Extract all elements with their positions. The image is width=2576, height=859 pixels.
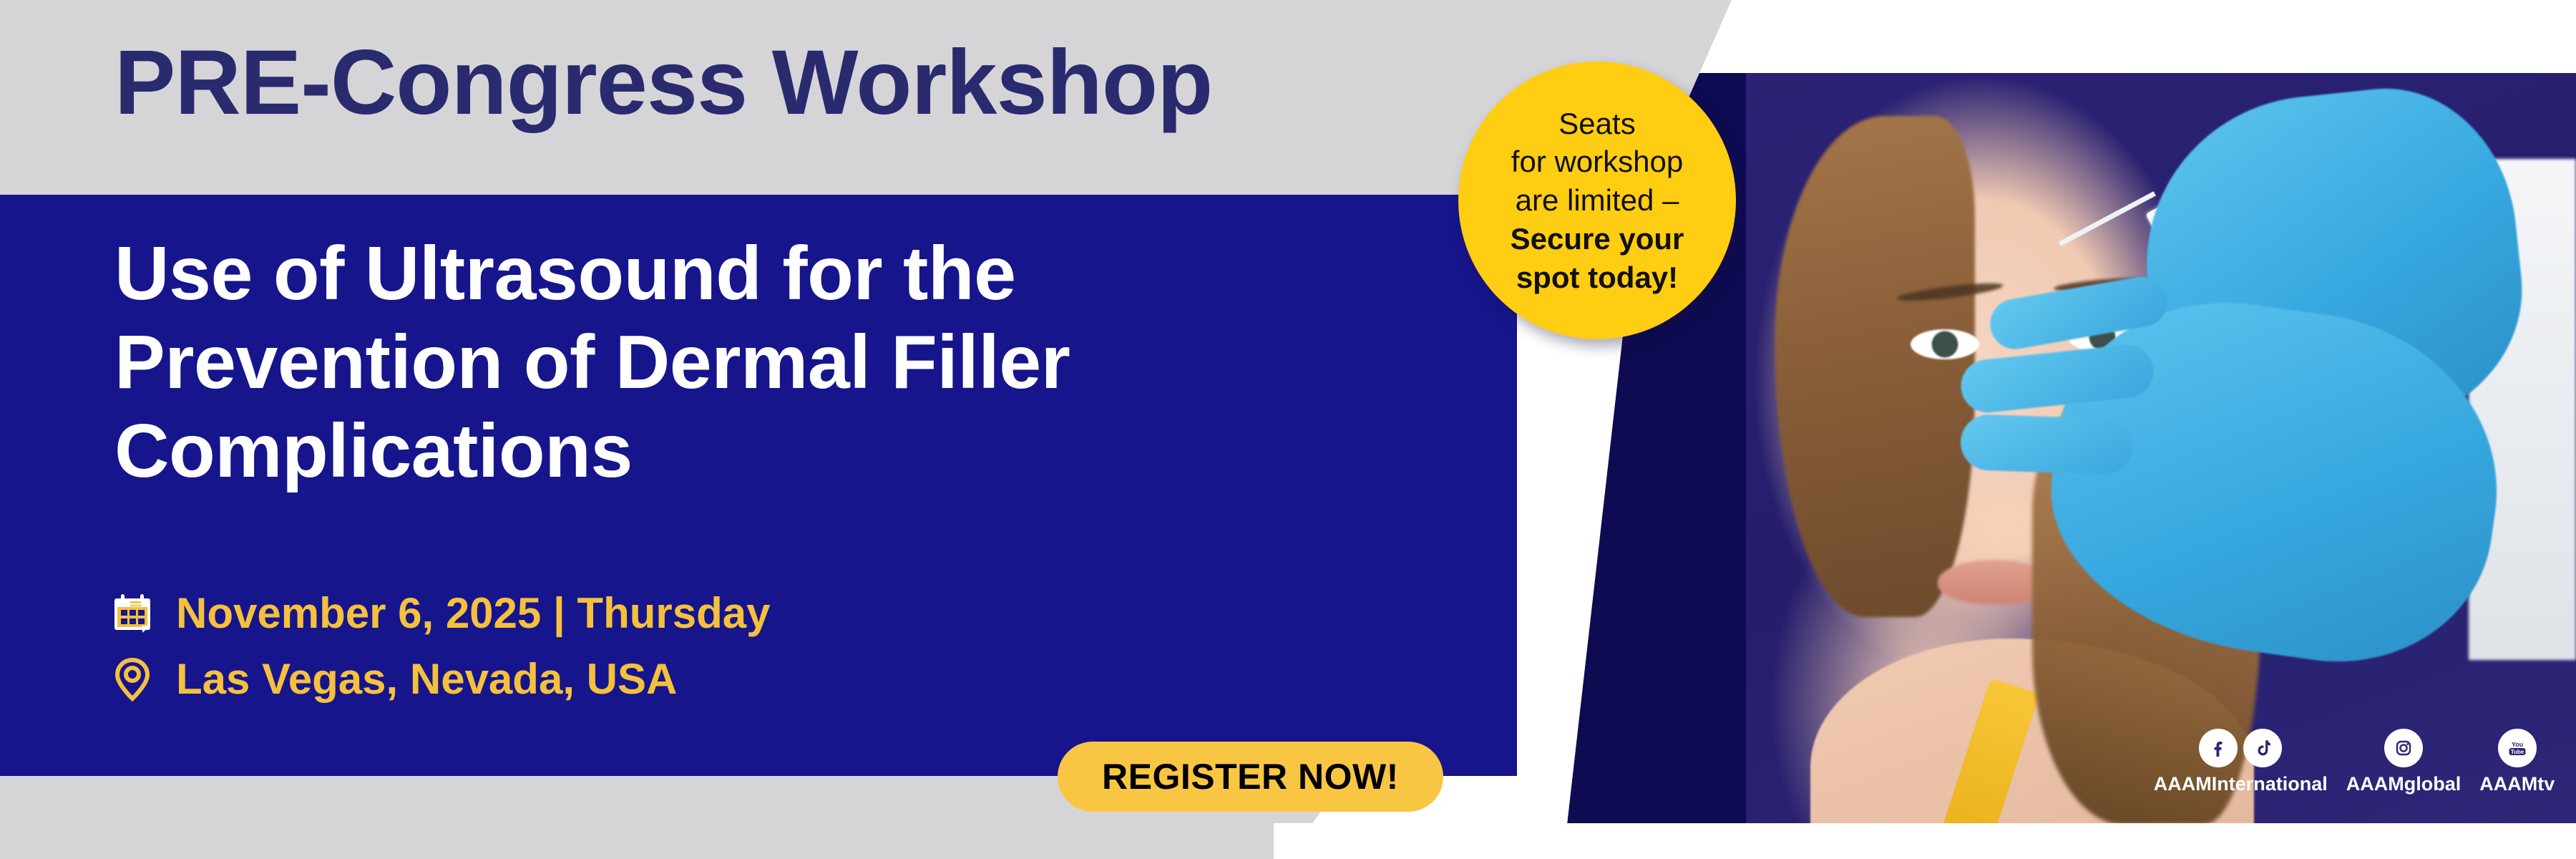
social-group-tv: You Tube AAAMtv <box>2479 729 2555 795</box>
facebook-icon[interactable] <box>2199 729 2238 767</box>
event-date-text: November 6, 2025 | Thursday <box>176 592 770 635</box>
social-icons-row-international <box>2199 729 2282 767</box>
eye-left <box>1911 329 1979 359</box>
social-icons-row-tv: You Tube <box>2498 729 2537 767</box>
social-label-international: AAAMInternational <box>2154 773 2328 795</box>
event-date-row: November 6, 2025 | Thursday <box>107 588 770 639</box>
hair-left <box>1775 116 1975 617</box>
badge-line-1: Seats <box>1511 105 1684 143</box>
calendar-icon <box>107 588 157 639</box>
limited-seats-badge-text: Seats for workshop are limited – Secure … <box>1489 105 1706 297</box>
svg-text:Tube: Tube <box>2510 749 2524 755</box>
instagram-icon[interactable] <box>2384 729 2423 767</box>
limited-seats-badge: Seats for workshop are limited – Secure … <box>1458 62 1736 339</box>
badge-line-3: are limited – <box>1511 181 1684 220</box>
tiktok-icon[interactable] <box>2243 729 2282 767</box>
social-label-tv: AAAMtv <box>2479 773 2555 795</box>
social-icons-row-global <box>2384 729 2423 767</box>
pre-congress-workshop-banner: PRE-Congress Workshop Use of Ultrasound … <box>0 0 2576 859</box>
social-group-international: AAAMInternational <box>2154 729 2328 795</box>
social-group-global: AAAMglobal <box>2346 729 2461 795</box>
badge-line-2: for workshop <box>1511 142 1684 181</box>
page-title: PRE-Congress Workshop <box>114 37 1212 129</box>
glove-finger-3 <box>1960 414 2134 475</box>
photo-surface <box>1746 73 2576 823</box>
event-meta: November 6, 2025 | Thursday Las Vegas, N… <box>107 588 770 704</box>
model-injection-photo <box>1746 73 2576 823</box>
workshop-headline: Use of Ultrasound for the Prevention of … <box>114 229 1367 495</box>
social-label-global: AAAMglobal <box>2346 773 2461 795</box>
event-location-text: Las Vegas, Nevada, USA <box>176 658 677 701</box>
register-now-button[interactable]: REGISTER NOW! <box>1058 742 1443 812</box>
social-media-bar: AAAMInternational AAAMglobal You <box>2147 716 2562 836</box>
background-white-top-right <box>1631 0 2576 73</box>
youtube-icon[interactable]: You Tube <box>2498 729 2537 767</box>
syringe-needle <box>2059 191 2156 246</box>
svg-text:You: You <box>2512 741 2523 748</box>
event-location-row: Las Vegas, Nevada, USA <box>107 654 770 704</box>
badge-line-5: spot today! <box>1511 258 1684 297</box>
location-pin-icon <box>107 654 157 704</box>
badge-line-4: Secure your <box>1511 220 1684 258</box>
